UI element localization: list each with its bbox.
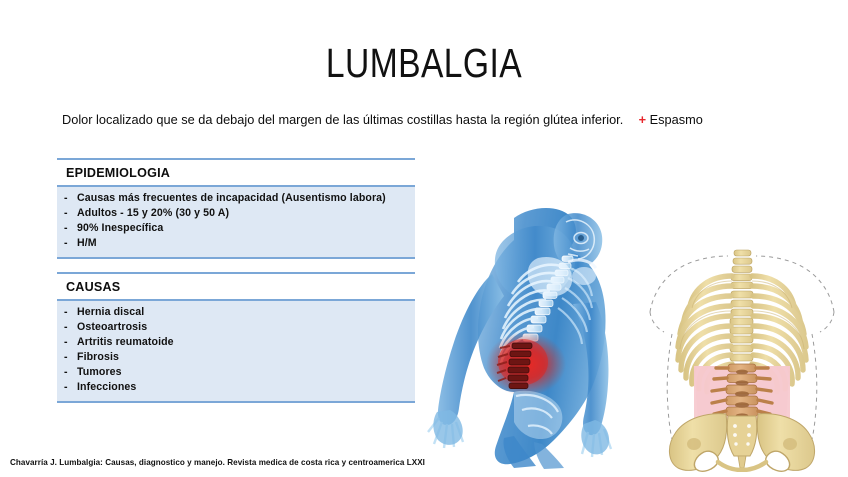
page-title: LUMBALGIA xyxy=(76,40,771,87)
list-item: - Fibrosis xyxy=(57,350,415,365)
section-heading: EPIDEMIOLOGIA xyxy=(57,160,415,185)
list-item: - Adultos - 15 y 20% (30 y 50 A) xyxy=(57,206,415,221)
list-item: - Tumores xyxy=(57,365,415,380)
skeleton-lumbar-highlight-image xyxy=(642,248,842,472)
list-item-label: 90% Inespecífica xyxy=(77,221,163,236)
list-item-label: Fibrosis xyxy=(77,350,119,365)
list-item: - H/M xyxy=(57,236,415,251)
bullet-dash: - xyxy=(57,365,77,380)
list-item-label: Infecciones xyxy=(77,380,136,395)
bullet-dash: - xyxy=(57,380,77,395)
bullet-dash: - xyxy=(57,236,77,251)
bullet-dash: - xyxy=(57,191,77,206)
slide-canvas: LUMBALGIA Dolor localizado que se da deb… xyxy=(0,0,848,477)
list-item: - 90% Inespecífica xyxy=(57,221,415,236)
list-item: - Hernia discal xyxy=(57,305,415,320)
subtitle-text: Dolor localizado que se da debajo del ma… xyxy=(62,112,623,127)
list-item-label: Tumores xyxy=(77,365,122,380)
bullet-dash: - xyxy=(57,221,77,236)
bullet-dash: - xyxy=(57,335,77,350)
bullet-dash: - xyxy=(57,350,77,365)
list-item: - Osteoartrosis xyxy=(57,320,415,335)
list-item: - Infecciones xyxy=(57,380,415,395)
list-item-label: Adultos - 15 y 20% (30 y 50 A) xyxy=(77,206,229,221)
list-item-label: Causas más frecuentes de incapacidad (Au… xyxy=(77,191,386,206)
section-causas: CAUSAS - Hernia discal - Osteoartrosis -… xyxy=(57,272,415,403)
section-epidemiologia: EPIDEMIOLOGIA - Causas más frecuentes de… xyxy=(57,158,415,259)
bullet-dash: - xyxy=(57,305,77,320)
bullet-dash: - xyxy=(57,206,77,221)
citation-footer: Chavarría J. Lumbalgia: Causas, diagnost… xyxy=(10,458,425,467)
subtitle-line: Dolor localizado que se da debajo del ma… xyxy=(62,112,772,127)
section-heading: CAUSAS xyxy=(57,274,415,299)
list-item-label: Hernia discal xyxy=(77,305,144,320)
section-list: - Hernia discal - Osteoartrosis - Artrit… xyxy=(57,299,415,403)
list-item-label: H/M xyxy=(77,236,97,251)
list-item: - Artritis reumatoide xyxy=(57,335,415,350)
list-item-label: Osteoartrosis xyxy=(77,320,147,335)
section-list: - Causas más frecuentes de incapacidad (… xyxy=(57,185,415,259)
subtitle-espasmo: Espasmo xyxy=(650,112,703,127)
bullet-dash: - xyxy=(57,320,77,335)
plus-symbol: + xyxy=(623,112,646,127)
human-xray-lumbar-pain-image xyxy=(418,196,648,471)
list-item: - Causas más frecuentes de incapacidad (… xyxy=(57,191,415,206)
list-item-label: Artritis reumatoide xyxy=(77,335,174,350)
